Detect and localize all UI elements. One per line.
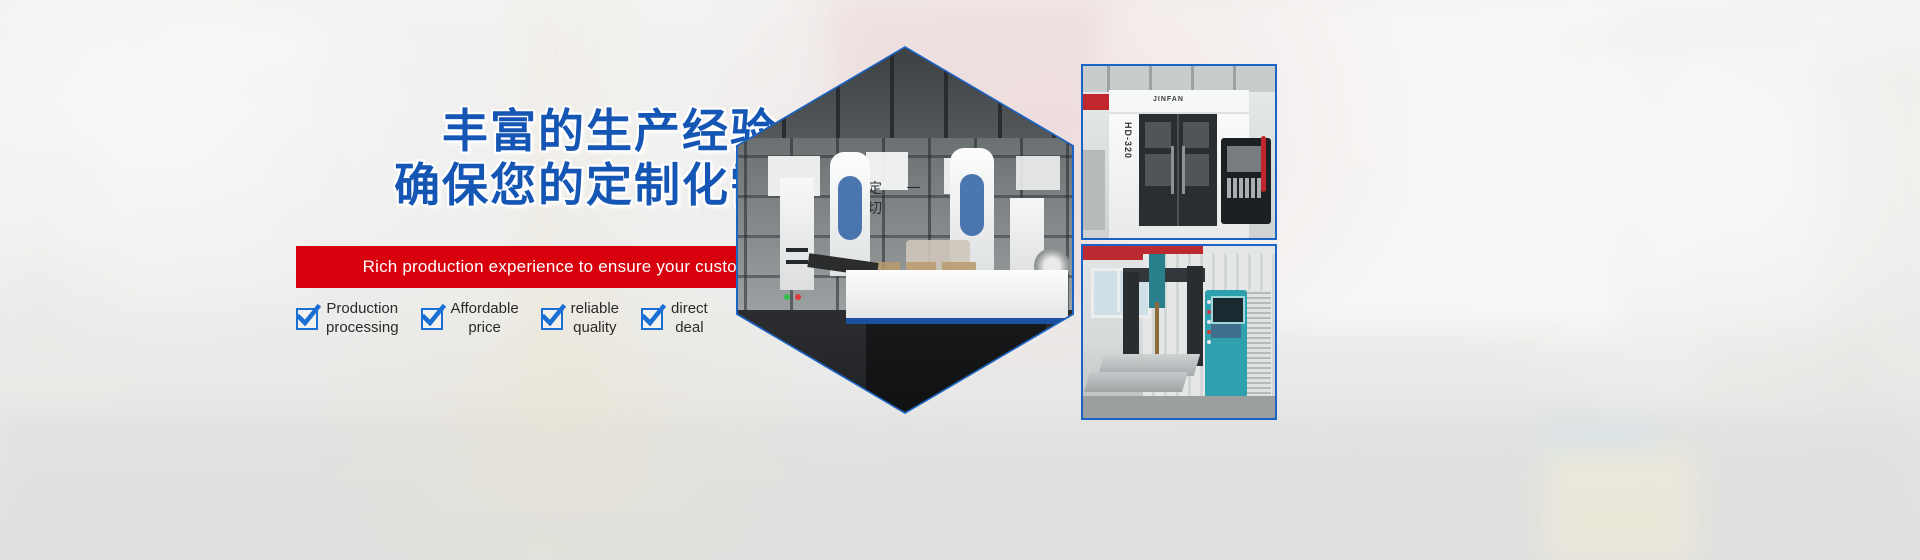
thumb2-electrical-rack xyxy=(1245,290,1271,402)
feature-item-affordable-price[interactable]: Affordable price xyxy=(421,300,519,338)
thumb2-window-mullion xyxy=(1117,268,1120,312)
thumb1-door-glass-c xyxy=(1145,154,1171,186)
thumb1-roof xyxy=(1083,66,1275,92)
thumb2-work-table-lower xyxy=(1084,372,1188,392)
feature-label: reliable quality xyxy=(571,300,619,338)
feature-label: Production processing xyxy=(326,300,399,338)
checkbox-checked-icon[interactable] xyxy=(541,308,563,330)
thumb2-spindle-head xyxy=(1149,254,1165,308)
photo-machine-bed xyxy=(846,270,1068,324)
thumb1-door-handle-left xyxy=(1171,146,1174,194)
thumb2-floor xyxy=(1083,396,1275,420)
feature-item-reliable-quality[interactable]: reliable quality xyxy=(541,300,619,338)
thumb1-door-glass-a xyxy=(1145,122,1171,148)
thumb1-door-glass-b xyxy=(1183,122,1209,148)
photo-window-far-right xyxy=(1016,156,1060,190)
checkbox-checked-icon[interactable] xyxy=(296,308,318,330)
feature-label: direct deal xyxy=(671,300,708,338)
thumb2-gantry-right xyxy=(1187,266,1203,366)
photo-column-left xyxy=(780,178,814,290)
thumb1-brand-label: JINFAN xyxy=(1153,96,1184,103)
thumbnail-machining-center[interactable]: JINFAN HD-320 xyxy=(1081,64,1277,240)
feature-label: Affordable price xyxy=(451,300,519,338)
promo-banner: 丰富的生产经验 确保您的定制化需求 Rich production experi… xyxy=(0,0,1920,560)
checkbox-checked-icon[interactable] xyxy=(641,308,663,330)
thumbnail-boring-machine[interactable] xyxy=(1081,244,1277,420)
thumb1-door-split xyxy=(1177,114,1179,226)
thumb2-boring-rod xyxy=(1155,302,1159,354)
thumb2-button-b xyxy=(1207,310,1211,314)
thumb2-button-a xyxy=(1207,300,1211,304)
feature-item-direct-deal[interactable]: direct deal xyxy=(641,300,708,338)
photo-indicator-lights xyxy=(784,294,801,300)
thumb2-cabinet-screen xyxy=(1211,296,1245,324)
hero-photo-hexagon[interactable]: 定 一 切 xyxy=(736,46,1074,414)
photo-roof xyxy=(738,48,1072,144)
thumb2-button-c xyxy=(1207,320,1211,324)
checkbox-checked-icon[interactable] xyxy=(421,308,443,330)
thumb1-door-handle-right xyxy=(1182,146,1185,194)
thumb1-side-stack xyxy=(1083,150,1105,230)
thumb1-red-strip xyxy=(1261,136,1266,192)
feature-item-production-processing[interactable]: Production processing xyxy=(296,300,399,338)
photo-machine-base xyxy=(866,310,1046,410)
headline-line-1: 丰富的生产经验 xyxy=(442,104,778,158)
thumb1-control-keypad xyxy=(1227,178,1263,198)
thumb1-model-label: HD-320 xyxy=(1119,122,1133,174)
thumb2-button-d xyxy=(1207,330,1211,334)
hero-photo: 定 一 切 xyxy=(738,48,1072,412)
thumb2-button-e xyxy=(1207,340,1211,344)
thumb2-cabinet-panel xyxy=(1211,324,1241,338)
thumb1-control-screen xyxy=(1227,146,1263,172)
thumb1-door-glass-d xyxy=(1183,154,1209,186)
